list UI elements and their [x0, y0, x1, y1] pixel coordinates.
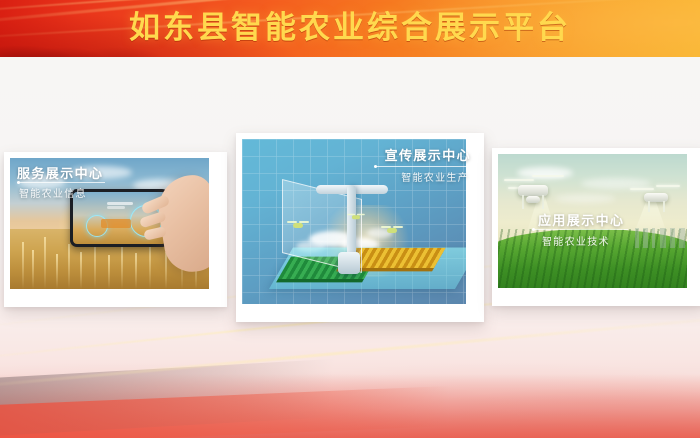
card-service-subtitle: 智能农业信息	[19, 185, 87, 200]
card-promotion-rule	[375, 166, 471, 167]
city-skyline	[631, 228, 685, 248]
drone-icon	[287, 220, 309, 229]
header-banner: 如东县智能农业综合展示平台	[0, 0, 700, 57]
drone-icon	[630, 183, 682, 217]
card-application-title: 应用展示中心	[538, 210, 624, 229]
card-application-rule	[532, 229, 628, 230]
card-service-center[interactable]: 服务展示中心 智能农业信息	[4, 152, 227, 307]
drone-icon	[381, 225, 403, 234]
card-application-subtitle: 智能农业技术	[542, 233, 610, 248]
card-service-dot	[17, 181, 20, 184]
hud-bar	[107, 206, 125, 209]
hud-panel	[101, 219, 131, 228]
card-service-title: 服务展示中心	[17, 163, 103, 182]
card-promotion-dot	[374, 165, 377, 168]
page-title: 如东县智能农业综合展示平台	[0, 9, 700, 47]
card-promotion-title: 宣传展示中心	[385, 145, 471, 164]
card-service-rule	[17, 182, 105, 183]
card-application-dot	[532, 228, 535, 231]
water-tank	[338, 252, 360, 274]
card-application-center[interactable]: 应用展示中心 智能农业技术	[492, 148, 700, 306]
card-promotion-subtitle: 智能农业生产	[401, 169, 469, 184]
card-promotion-center[interactable]: 宣传展示中心 智能农业生产	[236, 133, 484, 322]
app-root: 如东县智能农业综合展示平台	[0, 0, 700, 438]
drone-icon	[502, 173, 568, 215]
drone-icon	[347, 212, 365, 219]
hud-bar	[107, 202, 133, 205]
